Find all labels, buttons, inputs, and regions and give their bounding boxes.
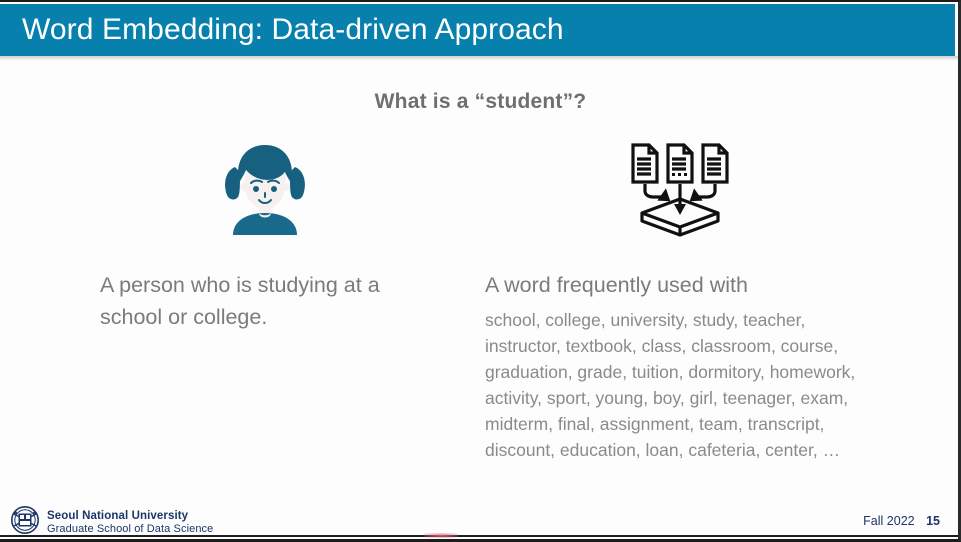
term-label: Fall 2022: [863, 514, 914, 528]
slide-title-bar: Word Embedding: Data-driven Approach: [0, 4, 955, 56]
right-column: A word frequently used with school, coll…: [485, 137, 885, 463]
left-definition-text: A person who is studying at a school or …: [100, 269, 440, 333]
documents-into-database-icon: [625, 137, 735, 242]
footer-annotation-mark: [424, 533, 458, 538]
subtitle-question: What is a “student”?: [0, 90, 961, 114]
page-title: Word Embedding: Data-driven Approach: [22, 13, 564, 47]
organization-name: Seoul National University: [47, 510, 213, 523]
footer-page-info: Fall 2022 15: [863, 514, 940, 528]
department-name: Graduate School of Data Science: [47, 523, 213, 535]
slide-canvas: Word Embedding: Data-driven Approach Wha…: [0, 0, 961, 542]
right-definition-text: A word frequently used with: [485, 269, 885, 301]
banner-drop-shadow: [0, 56, 961, 61]
left-icon-wrap: [100, 137, 440, 242]
left-column: A person who is studying at a school or …: [100, 137, 440, 333]
cooccurring-word-list: school, college, university, study, teac…: [485, 307, 885, 463]
right-icon-wrap: [485, 137, 885, 242]
footer-divider: [0, 535, 961, 537]
page-number: 15: [926, 514, 940, 528]
institution-logo-text: Seoul National University Graduate Schoo…: [47, 510, 213, 535]
student-girl-avatar-icon: [215, 137, 315, 242]
